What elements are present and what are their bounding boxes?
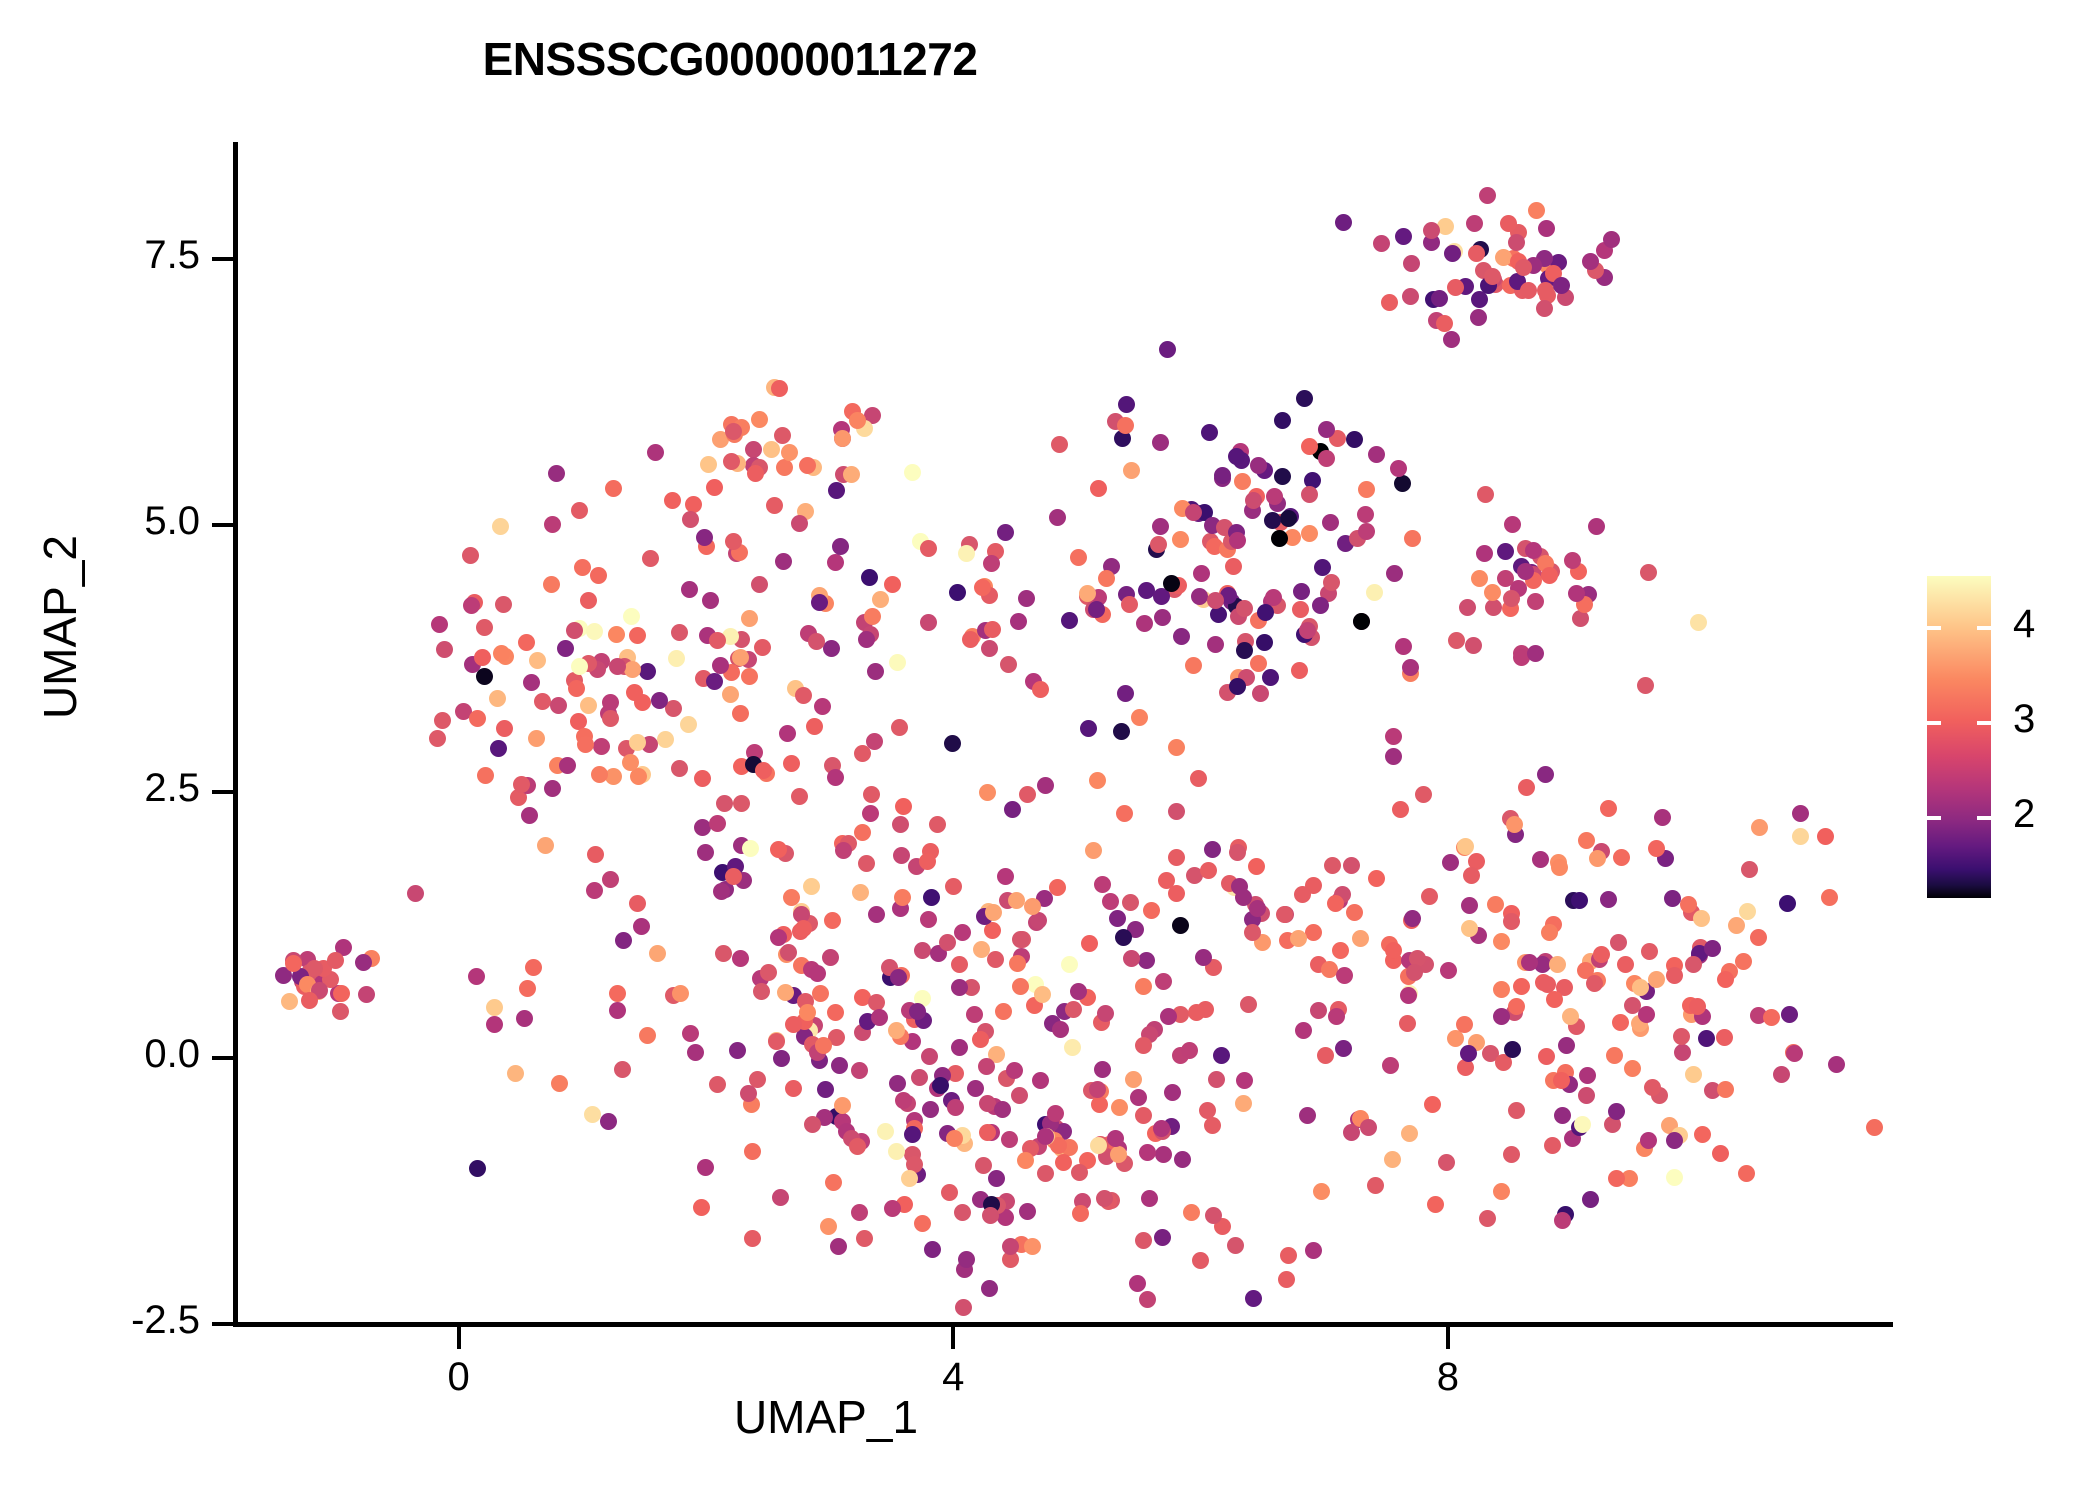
scatter-point: [1468, 853, 1485, 870]
scatter-point: [1544, 1137, 1561, 1154]
scatter-point: [1556, 979, 1573, 996]
scatter-point: [1632, 1020, 1649, 1037]
scatter-point: [1694, 1008, 1711, 1025]
scatter-point: [1537, 282, 1554, 299]
scatter-point: [1654, 809, 1671, 826]
scatter-point: [1431, 290, 1448, 307]
scatter-point: [1485, 271, 1502, 288]
scatter-point: [1588, 518, 1605, 535]
scatter-point: [1557, 1206, 1574, 1223]
scatter-point: [1500, 215, 1517, 232]
scatter-point: [1440, 962, 1457, 979]
colorbar-tick-label: 4: [2013, 602, 2083, 647]
scatter-point: [1487, 276, 1504, 293]
scatter-point: [1459, 599, 1476, 616]
scatter-point: [1485, 599, 1502, 616]
scatter-point: [1471, 291, 1488, 308]
scatter-point: [1786, 1045, 1803, 1062]
scatter-point: [1541, 924, 1558, 941]
y-tick-mark: [212, 257, 236, 261]
scatter-point: [1680, 896, 1697, 913]
scatter-point: [1480, 277, 1497, 294]
scatter-point: [1693, 910, 1710, 927]
scatter-point: [1447, 279, 1464, 296]
scatter-point: [1817, 828, 1834, 845]
scatter-point: [1523, 564, 1540, 581]
scatter-point: [1582, 253, 1599, 270]
scatter-point: [1604, 1116, 1621, 1133]
scatter-point: [1591, 951, 1608, 968]
scatter-point: [1527, 593, 1544, 610]
colorbar-tick-mark: [1927, 721, 1941, 725]
scatter-point: [1539, 287, 1556, 304]
scatter-point: [1423, 234, 1440, 251]
scatter-point: [1792, 805, 1809, 822]
scatter-point: [1540, 270, 1557, 287]
scatter-point: [1603, 231, 1620, 248]
scatter-point: [1502, 810, 1519, 827]
scatter-point: [1497, 543, 1514, 560]
scatter-point: [1612, 1014, 1629, 1031]
scatter-point: [1513, 978, 1530, 995]
scatter-point: [1493, 1183, 1510, 1200]
scatter-point: [1532, 548, 1549, 565]
scatter-point: [1503, 905, 1520, 922]
umap-feature-plot: ENSSSCG00000011272 -2.50.02.55.07.5 048 …: [0, 0, 2100, 1500]
x-tick-mark: [1446, 1327, 1450, 1349]
scatter-point: [1444, 245, 1461, 262]
scatter-point: [1495, 249, 1512, 266]
scatter-point: [1518, 779, 1535, 796]
scatter-point: [1513, 649, 1530, 666]
scatter-point: [1506, 816, 1523, 833]
scatter-point: [1532, 851, 1549, 868]
y-axis-line: [233, 142, 238, 1324]
scatter-point: [1717, 1081, 1734, 1098]
scatter-point: [1571, 1119, 1588, 1136]
scatter-point: [1550, 254, 1567, 271]
scatter-point: [1521, 954, 1538, 971]
scatter-point: [1821, 889, 1838, 906]
scatter-point: [1514, 282, 1531, 299]
scatter-point: [1538, 1048, 1555, 1065]
scatter-point: [1545, 1072, 1562, 1089]
scatter-point: [1460, 1045, 1477, 1062]
scatter-point: [1781, 1006, 1798, 1023]
colorbar-legend: 234: [1927, 576, 1991, 898]
scatter-point: [1557, 1064, 1574, 1081]
scatter-point: [1666, 1132, 1683, 1149]
scatter-point: [1763, 1009, 1780, 1026]
scatter-point: [1685, 1066, 1702, 1083]
scatter-point: [1504, 1041, 1521, 1058]
scatter-point: [1739, 903, 1756, 920]
scatter-point: [1682, 997, 1699, 1014]
x-axis-title: UMAP_1: [236, 1390, 1416, 1444]
scatter-point: [1539, 257, 1556, 274]
y-tick-label: 7.5: [70, 233, 200, 278]
scatter-point: [1589, 850, 1606, 867]
scatter-point: [1641, 943, 1658, 960]
plot-panel: [236, 142, 1416, 1324]
scatter-point: [1457, 838, 1474, 855]
scatter-point: [1562, 1008, 1579, 1025]
scatter-point: [1502, 277, 1519, 294]
scatter-point: [1461, 920, 1478, 937]
scatter-point: [1437, 218, 1454, 235]
scatter-point: [1613, 849, 1630, 866]
y-tick-label: -2.5: [70, 1298, 200, 1343]
scatter-point: [1674, 1044, 1691, 1061]
scatter-point: [1482, 1045, 1499, 1062]
y-tick-mark: [212, 523, 236, 527]
scatter-point: [1636, 1140, 1653, 1157]
scatter-point: [1691, 947, 1708, 964]
scatter-point: [1779, 895, 1796, 912]
scatter-point: [1513, 645, 1530, 662]
scatter-point: [1683, 1006, 1700, 1023]
y-tick-label: 5.0: [70, 499, 200, 544]
scatter-point: [1528, 202, 1545, 219]
y-tick-label: 0.0: [70, 1032, 200, 1077]
scatter-point: [1735, 953, 1752, 970]
y-axis-title: UMAP_2: [33, 347, 87, 907]
scatter-point: [1525, 572, 1542, 589]
scatter-point: [1608, 1170, 1625, 1187]
scatter-point: [1425, 291, 1442, 308]
scatter-point: [1587, 262, 1604, 279]
scatter-point: [1472, 241, 1489, 258]
scatter-point: [1728, 917, 1745, 934]
scatter-point: [1661, 1117, 1678, 1134]
scatter-point: [1576, 596, 1593, 613]
scatter-point: [1712, 1145, 1729, 1162]
page-title: ENSSSCG00000011272: [0, 32, 1460, 86]
scatter-point: [1545, 916, 1562, 933]
scatter-point: [1461, 897, 1478, 914]
scatter-point: [1457, 1059, 1474, 1076]
colorbar-tick-mark: [1927, 626, 1941, 630]
scatter-point: [1554, 1107, 1571, 1124]
scatter-point: [1546, 991, 1563, 1008]
scatter-point: [1493, 1008, 1510, 1025]
scatter-point: [1582, 1191, 1599, 1208]
scatter-point: [1539, 976, 1556, 993]
scatter-point: [1468, 1034, 1485, 1051]
scatter-point: [1508, 998, 1525, 1015]
scatter-point: [1828, 1056, 1845, 1073]
scatter-point: [1632, 979, 1649, 996]
scatter-point: [1517, 954, 1534, 971]
scatter-point: [1651, 1087, 1668, 1104]
scatter-point: [1741, 861, 1758, 878]
scatter-point: [1503, 913, 1520, 930]
scatter-point: [1527, 645, 1544, 662]
scatter-point: [1510, 580, 1527, 597]
scatter-point: [1608, 1103, 1625, 1120]
scatter-point: [1536, 250, 1553, 267]
colorbar-gradient: [1927, 576, 1991, 898]
scatter-point: [1506, 1004, 1523, 1021]
scatter-point: [1568, 1018, 1585, 1035]
scatter-point: [1624, 997, 1641, 1014]
y-tick-label: 2.5: [70, 766, 200, 811]
scatter-point: [1704, 1082, 1721, 1099]
scatter-point: [1690, 614, 1707, 631]
scatter-point: [1424, 1096, 1441, 1113]
scatter-point: [1626, 975, 1643, 992]
scatter-point: [1606, 1047, 1623, 1064]
scatter-point: [1479, 187, 1496, 204]
scatter-point: [1436, 315, 1453, 332]
scatter-point: [1550, 854, 1567, 871]
scatter-point: [1596, 242, 1613, 259]
scatter-point: [1750, 1007, 1767, 1024]
scatter-point: [1466, 215, 1483, 232]
scatter-point: [1558, 1037, 1575, 1054]
scatter-point: [1468, 245, 1485, 262]
scatter-point: [1475, 262, 1492, 279]
scatter-point: [1502, 600, 1519, 617]
scatter-point: [1477, 486, 1494, 503]
scatter-point: [1617, 956, 1634, 973]
scatter-point: [1691, 945, 1708, 962]
scatter-point: [1621, 1170, 1638, 1187]
scatter-point: [1564, 1130, 1581, 1147]
scatter-point: [1561, 1076, 1578, 1093]
scatter-point: [1624, 1060, 1641, 1077]
scatter-point: [1525, 257, 1542, 274]
scatter-point: [1717, 971, 1734, 988]
scatter-point: [1508, 1102, 1525, 1119]
scatter-point: [1484, 268, 1501, 285]
colorbar-tick-mark: [1977, 626, 1991, 630]
scatter-point: [1773, 1066, 1790, 1083]
scatter-point: [1476, 545, 1493, 562]
scatter-point: [1551, 859, 1568, 876]
scatter-point: [1479, 1210, 1496, 1227]
scatter-point: [1557, 289, 1574, 306]
scatter-point: [1421, 888, 1438, 905]
scatter-point: [1553, 277, 1570, 294]
scatter-point: [1600, 891, 1617, 908]
scatter-point: [1565, 892, 1582, 909]
scatter-point: [1415, 786, 1432, 803]
scatter-point: [1471, 570, 1488, 587]
scatter-point: [1470, 927, 1487, 944]
scatter-point: [1610, 934, 1627, 951]
scatter-point: [1586, 975, 1603, 992]
x-tick-mark: [457, 1327, 461, 1349]
scatter-point: [1637, 677, 1654, 694]
scatter-point: [1640, 1132, 1657, 1149]
scatter-point: [1750, 929, 1767, 946]
scatter-point: [1596, 269, 1613, 286]
y-tick-mark: [212, 1056, 236, 1060]
colorbar-tick-label: 3: [2013, 697, 2083, 742]
scatter-point: [1465, 637, 1482, 654]
scatter-point: [1638, 1006, 1655, 1023]
scatter-point: [1538, 220, 1555, 237]
x-tick-mark: [951, 1327, 955, 1349]
scatter-point: [1704, 940, 1721, 957]
scatter-point: [1448, 632, 1465, 649]
scatter-point: [1721, 963, 1738, 980]
scatter-point: [1447, 1030, 1464, 1047]
scatter-point: [1446, 243, 1463, 260]
scatter-point: [1638, 983, 1655, 1000]
scatter-point: [1536, 300, 1553, 317]
scatter-point: [1582, 953, 1599, 970]
scatter-point: [1456, 839, 1473, 856]
colorbar-tick-mark: [1927, 816, 1941, 820]
scatter-point: [1572, 610, 1589, 627]
scatter-point: [1493, 933, 1510, 950]
scatter-point: [1666, 957, 1683, 974]
scatter-point: [1507, 826, 1524, 843]
scatter-point: [1689, 998, 1706, 1015]
scatter-point: [1505, 250, 1522, 267]
scatter-point: [1509, 273, 1526, 290]
scatter-point: [1463, 867, 1480, 884]
scatter-point: [1578, 832, 1595, 849]
scatter-point: [1417, 956, 1434, 973]
scatter-point: [1673, 1028, 1690, 1045]
scatter-point: [1510, 253, 1527, 270]
scatter-point: [1442, 854, 1459, 871]
scatter-point: [1692, 939, 1709, 956]
colorbar-tick-mark: [1977, 816, 1991, 820]
scatter-point: [1438, 1154, 1455, 1171]
scatter-point: [1534, 956, 1551, 973]
scatter-point: [1564, 552, 1581, 569]
scatter-point: [1493, 981, 1510, 998]
scatter-point: [1553, 1072, 1570, 1089]
scatter-point: [1683, 904, 1700, 921]
scatter-point: [1517, 563, 1534, 580]
scatter-point: [1694, 1126, 1711, 1143]
colorbar-tick-mark: [1977, 721, 1991, 725]
scatter-point: [1664, 890, 1681, 907]
scatter-point: [1751, 819, 1768, 836]
scatter-point: [1657, 850, 1674, 867]
scatter-point: [1716, 1029, 1733, 1046]
scatter-point: [1570, 563, 1587, 580]
y-tick-mark: [212, 790, 236, 794]
scatter-point: [1792, 828, 1809, 845]
scatter-point: [1457, 278, 1474, 295]
scatter-point: [1525, 542, 1542, 559]
scatter-point: [1543, 563, 1560, 580]
scatter-point: [1554, 1212, 1571, 1229]
scatter-point: [1571, 892, 1588, 909]
scatter-point: [1549, 956, 1566, 973]
scatter-point: [1537, 953, 1554, 970]
scatter-point: [1568, 585, 1585, 602]
scatter-point: [1671, 1127, 1688, 1144]
scatter-point: [1510, 224, 1527, 241]
scatter-point: [1589, 972, 1606, 989]
scatter-point: [1648, 971, 1665, 988]
scatter-point: [1495, 1054, 1512, 1071]
scatter-point: [1577, 962, 1594, 979]
scatter-point: [1503, 590, 1520, 607]
colorbar-tick-label: 2: [2013, 792, 2083, 837]
scatter-point: [1428, 312, 1445, 329]
scatter-point: [1580, 586, 1597, 603]
scatter-point: [1513, 558, 1530, 575]
scatter-point: [1600, 800, 1617, 817]
scatter-point: [1785, 1044, 1802, 1061]
scatter-point: [1423, 222, 1440, 239]
scatter-point: [1666, 1169, 1683, 1186]
scatter-point: [1525, 566, 1542, 583]
scatter-point: [1456, 1016, 1473, 1033]
scatter-point: [1517, 540, 1534, 557]
scatter-point: [1593, 843, 1610, 860]
scatter-point: [1574, 1116, 1591, 1133]
scatter-point: [1698, 1030, 1715, 1047]
scatter-point: [1593, 946, 1610, 963]
scatter-point: [1487, 896, 1504, 913]
scatter-point: [1866, 1119, 1883, 1136]
scatter-point: [1535, 974, 1552, 991]
scatter-point: [1504, 516, 1521, 533]
scatter-point: [1738, 1165, 1755, 1182]
scatter-point: [1470, 309, 1487, 326]
scatter-point: [1631, 1015, 1648, 1032]
y-tick-mark: [212, 1322, 236, 1326]
scatter-point: [1578, 1087, 1595, 1104]
scatter-point: [1484, 584, 1501, 601]
x-axis-line: [233, 1322, 1893, 1327]
scatter-point: [1541, 567, 1558, 584]
scatter-point: [1640, 564, 1657, 581]
scatter-point: [1537, 766, 1554, 783]
scatter-point: [1443, 331, 1460, 348]
scatter-point: [1520, 282, 1537, 299]
scatter-point: [1503, 1146, 1520, 1163]
scatter-point: [1497, 570, 1514, 587]
scatter-point: [1515, 259, 1532, 276]
scatter-point: [1427, 1196, 1444, 1213]
scatter-point: [1579, 1067, 1596, 1084]
scatter-point: [1685, 956, 1702, 973]
scatter-point: [1508, 234, 1525, 251]
scatter-point: [1537, 555, 1554, 572]
scatter-point: [1666, 967, 1683, 984]
scatter-point: [1648, 840, 1665, 857]
scatter-point: [1545, 265, 1562, 282]
scatter-point: [1644, 1079, 1661, 1096]
